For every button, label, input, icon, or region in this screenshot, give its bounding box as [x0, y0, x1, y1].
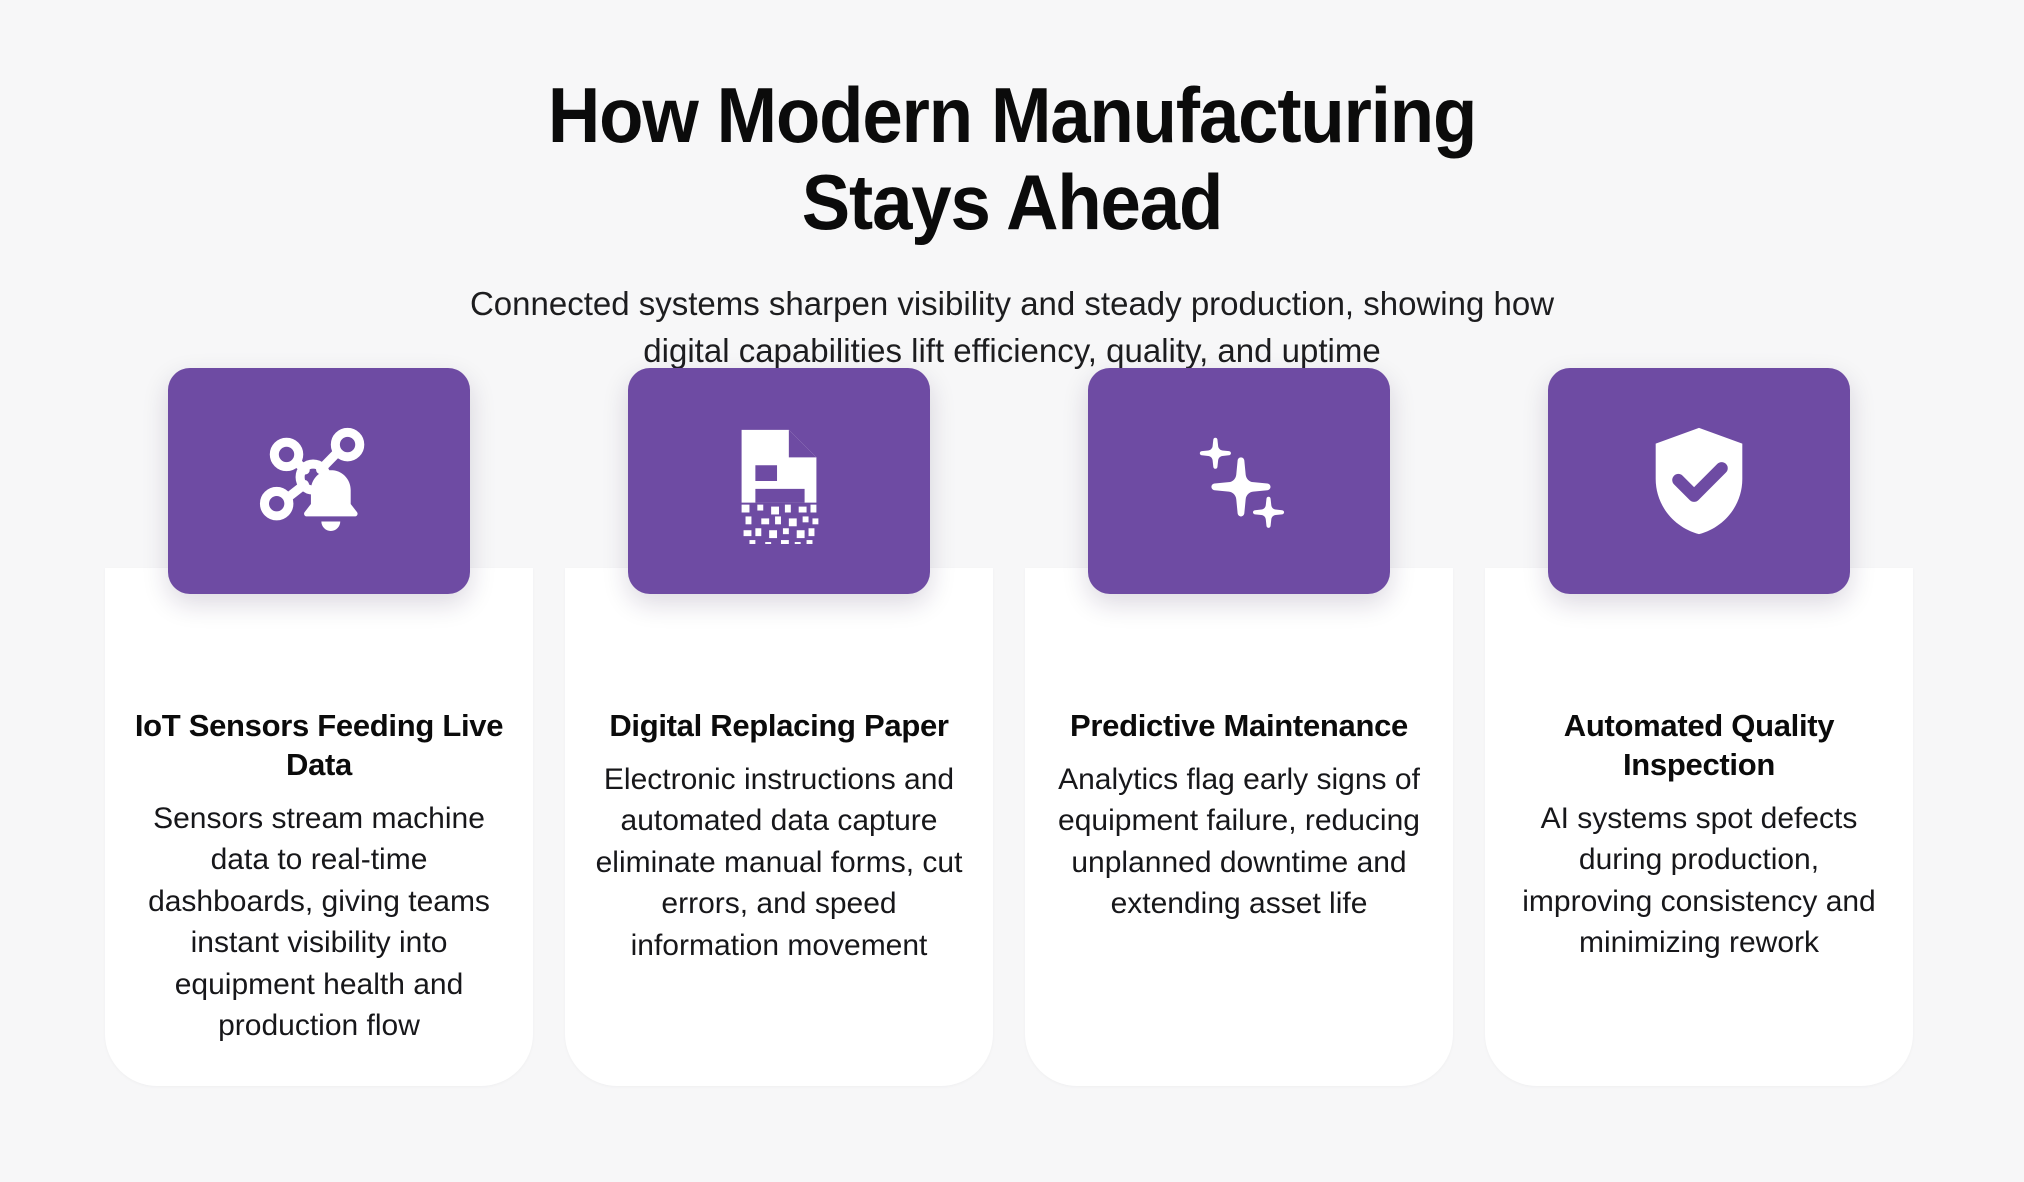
- shield-check-icon: [1636, 418, 1762, 544]
- page-subtitle-line-1: Connected systems sharpen visibility and…: [0, 281, 2024, 328]
- document-to-pixels-icon: [716, 418, 842, 544]
- feature-card-iot-sensors: IoT Sensors Feeding Live Data Sensors st…: [105, 568, 533, 1086]
- sensor-network-bell-icon: [256, 418, 382, 544]
- card-description: Sensors stream machine data to real-time…: [131, 798, 507, 1046]
- page-subtitle: Connected systems sharpen visibility and…: [0, 281, 2024, 375]
- card-title: Digital Replacing Paper: [591, 706, 967, 745]
- page-title-line-1: How Modern Manufacturing: [71, 72, 1953, 159]
- page-title: How Modern Manufacturing Stays Ahead: [71, 72, 1953, 247]
- icon-tile-4: [1548, 368, 1850, 594]
- card-description: Electronic instructions and automated da…: [591, 759, 967, 966]
- sparkles-icon: [1176, 418, 1302, 544]
- header: How Modern Manufacturing Stays Ahead Con…: [0, 0, 2024, 374]
- card-title: IoT Sensors Feeding Live Data: [131, 706, 507, 784]
- icon-tile-1: [168, 368, 470, 594]
- feature-card-quality-inspection: Automated Quality Inspection AI systems …: [1485, 568, 1913, 1086]
- card-title: Predictive Maintenance: [1051, 706, 1427, 745]
- card-description: AI systems spot defects during productio…: [1511, 798, 1887, 964]
- icon-tile-2: [628, 368, 930, 594]
- infographic-page: How Modern Manufacturing Stays Ahead Con…: [0, 0, 2024, 1182]
- card-title: Automated Quality Inspection: [1511, 706, 1887, 784]
- card-description: Analytics flag early signs of equipment …: [1051, 759, 1427, 925]
- icon-tile-3: [1088, 368, 1390, 594]
- feature-card-predictive-maintenance: Predictive Maintenance Analytics flag ea…: [1025, 568, 1453, 1086]
- page-title-line-2: Stays Ahead: [71, 159, 1953, 246]
- feature-card-row: IoT Sensors Feeding Live Data Sensors st…: [105, 568, 1919, 1086]
- feature-card-digital-paper: Digital Replacing Paper Electronic instr…: [565, 568, 993, 1086]
